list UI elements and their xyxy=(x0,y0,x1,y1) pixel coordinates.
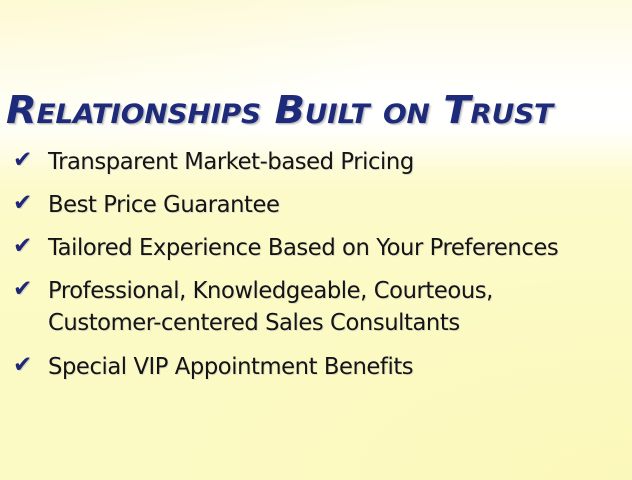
slide-canvas: Relationships Built on Trust ✔ Transpare… xyxy=(0,0,632,480)
list-item: ✔ Best Price Guarantee xyxy=(0,189,632,219)
list-item: ✔ Tailored Experience Based on Your Pref… xyxy=(0,232,632,262)
list-item-label: Professional, Knowledgeable, Courteous, xyxy=(48,275,612,305)
list-item-label-continued: Customer-centered Sales Consultants xyxy=(48,307,612,337)
list-item: ✔ Transparent Market-based Pricing xyxy=(0,146,632,176)
check-icon: ✔ xyxy=(13,147,37,173)
page-title: Relationships Built on Trust xyxy=(6,89,632,133)
slide-content: Relationships Built on Trust ✔ Transpare… xyxy=(0,0,632,480)
list-item-label: Transparent Market-based Pricing xyxy=(48,146,612,176)
list-item: ✔ Special VIP Appointment Benefits xyxy=(0,351,632,381)
benefits-list: ✔ Transparent Market-based Pricing ✔ Bes… xyxy=(0,146,632,396)
check-icon: ✔ xyxy=(13,352,37,378)
list-item-label: Special VIP Appointment Benefits xyxy=(48,351,612,381)
check-icon: ✔ xyxy=(13,190,37,216)
list-item-label: Tailored Experience Based on Your Prefer… xyxy=(48,232,612,262)
list-item: ✔ Professional, Knowledgeable, Courteous… xyxy=(0,275,632,337)
list-item-label: Best Price Guarantee xyxy=(48,189,612,219)
check-icon: ✔ xyxy=(13,233,37,259)
check-icon: ✔ xyxy=(13,276,37,302)
